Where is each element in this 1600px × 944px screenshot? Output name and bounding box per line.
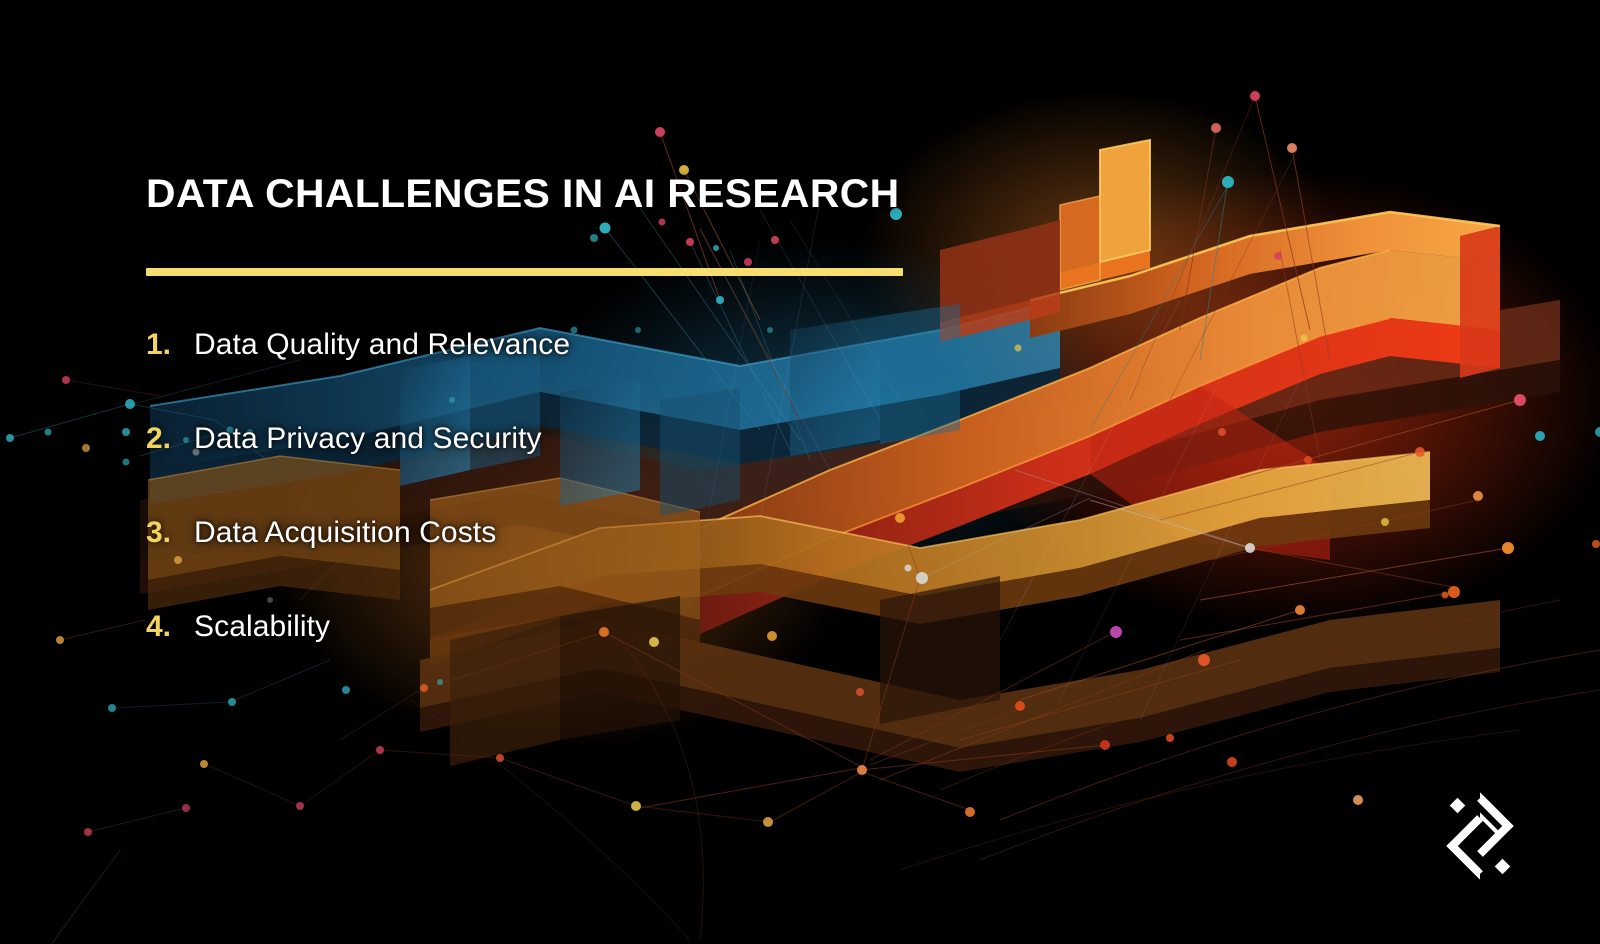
list-item-label: Data Quality and Relevance: [194, 330, 570, 360]
list-item: 1. Data Quality and Relevance: [146, 330, 906, 424]
list-item-label: Scalability: [194, 612, 330, 642]
page-title: DATA CHALLENGES IN AI RESEARCH: [146, 172, 899, 217]
brand-logo-s-mark: [1440, 788, 1520, 884]
list-item-number: 1.: [146, 330, 194, 360]
challenges-list: 1. Data Quality and Relevance 2. Data Pr…: [146, 330, 906, 706]
list-item-number: 4.: [146, 612, 194, 642]
list-item-number: 2.: [146, 424, 194, 454]
title-underline: [146, 268, 903, 276]
list-item-label: Data Privacy and Security: [194, 424, 542, 454]
slide-root: DATA CHALLENGES IN AI RESEARCH 1. Data Q…: [0, 0, 1600, 944]
list-item: 2. Data Privacy and Security: [146, 424, 906, 518]
list-item-number: 3.: [146, 518, 194, 548]
list-item: 3. Data Acquisition Costs: [146, 518, 906, 612]
list-item-label: Data Acquisition Costs: [194, 518, 496, 548]
list-item: 4. Scalability: [146, 612, 906, 706]
